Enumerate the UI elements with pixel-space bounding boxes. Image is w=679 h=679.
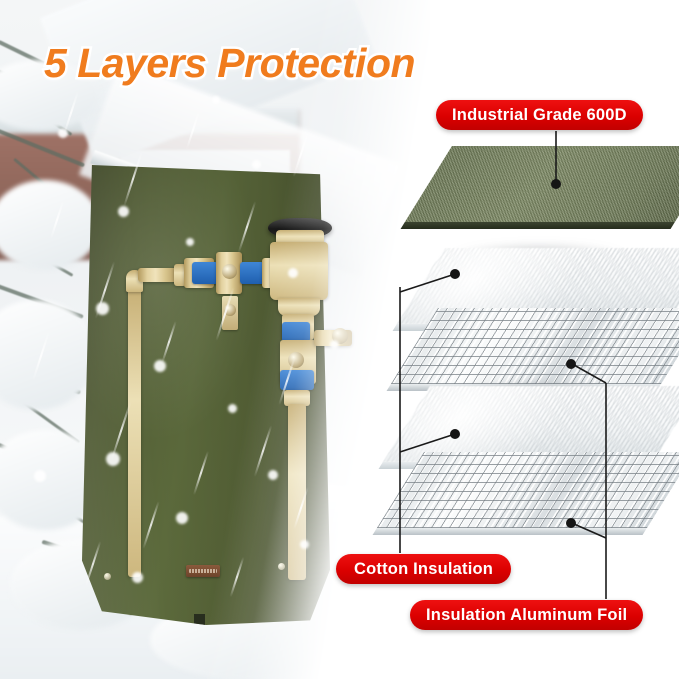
layer-foil-surface	[391, 308, 679, 384]
blue-handle-upper-left	[192, 262, 218, 284]
layer-600d-surface	[405, 146, 679, 222]
callout-cotton-insulation[interactable]: Cotton Insulation	[336, 554, 511, 584]
valve-lower-dial	[288, 352, 304, 368]
valve-test-cock-dial	[222, 264, 237, 279]
layer-cotton-surface	[383, 386, 679, 462]
callout-insulation-aluminum-foil[interactable]: Insulation Aluminum Foil	[410, 600, 643, 630]
layer-foil-edge	[373, 528, 647, 535]
backflow-preventer-valve	[118, 200, 318, 560]
valve-bottom-riser	[288, 404, 306, 580]
valve-tag-dial	[224, 304, 236, 316]
layer-600d-edge	[401, 222, 675, 229]
blue-handle-mid	[282, 322, 310, 342]
valve-side-dial	[332, 328, 348, 344]
cover-grommet	[104, 573, 111, 580]
valve-main-body	[270, 242, 328, 300]
page-title: 5 Layers Protection	[44, 40, 415, 87]
brand-tag	[186, 565, 220, 577]
layer-stack-diagram	[404, 140, 679, 570]
valve-left-riser	[128, 282, 141, 577]
layer-600d-fabric	[395, 146, 679, 238]
infographic-canvas: Industrial Grade 600D Cotton Insulation …	[0, 0, 679, 679]
blue-handle-upper-right	[240, 262, 264, 284]
cover-grommet	[278, 563, 285, 570]
callout-industrial-grade-600d[interactable]: Industrial Grade 600D	[436, 100, 643, 130]
blue-handle-lower	[280, 370, 314, 390]
layer-foil-surface	[377, 452, 679, 528]
